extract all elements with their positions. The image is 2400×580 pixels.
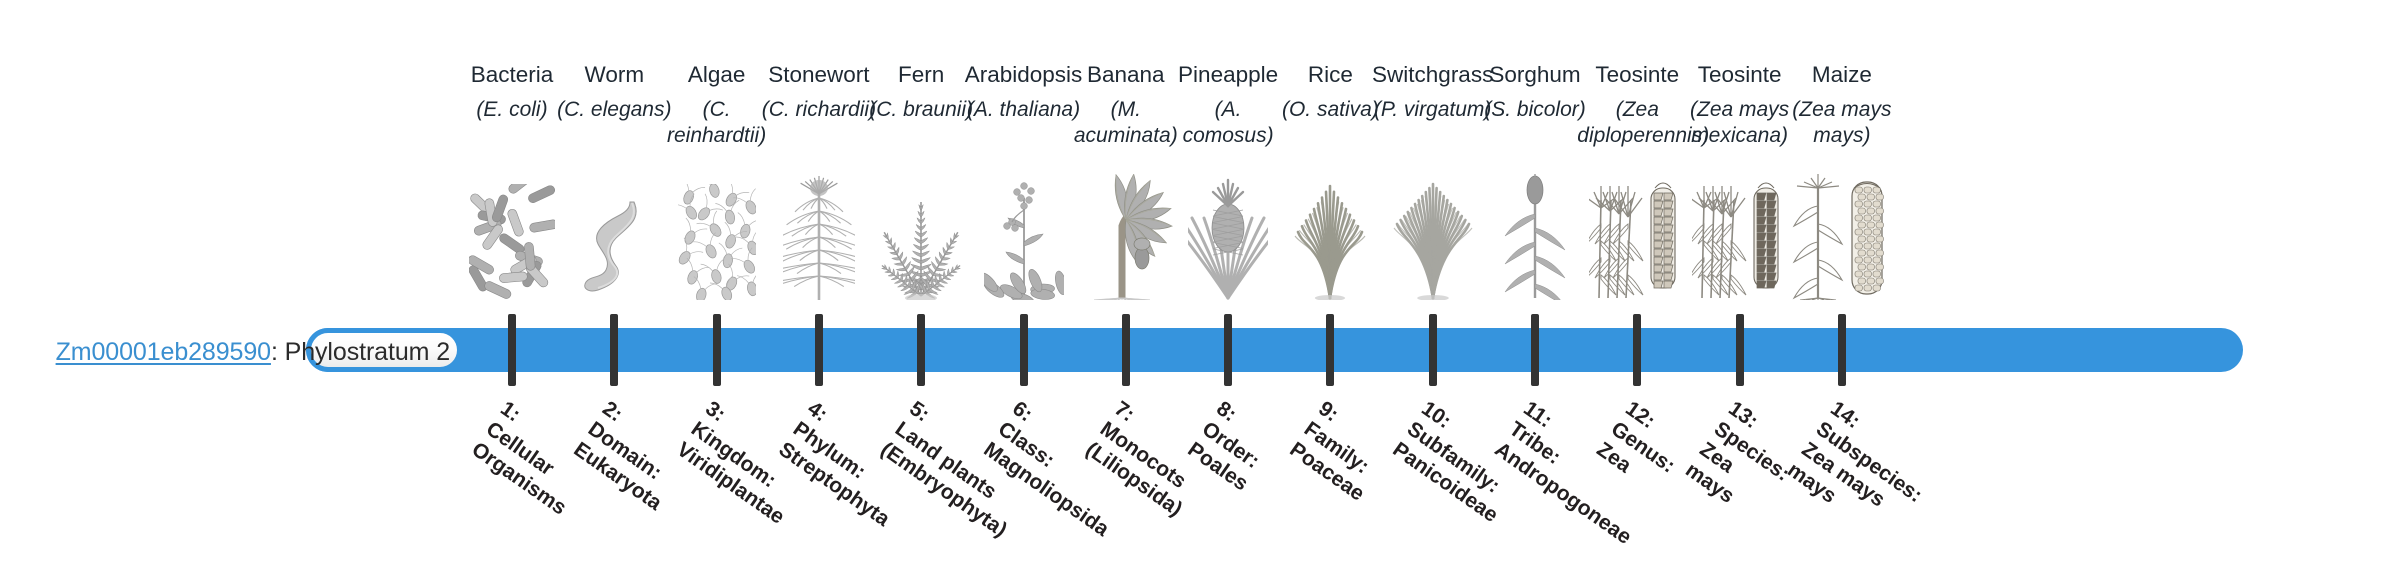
gene-phylostratum-label: Zm00001eb289590: Phylostratum 2 [0,338,450,367]
phylostratum-tick-6 [1020,314,1028,386]
phylostratum-label-14: 14: Subspecies: Zea mays mays [1783,396,2029,580]
species-column-8: Pineapple(A. comosus)8: Order: Poales [1177,0,1279,580]
species-column-9: Rice(O. sativa)9: Family: Poaceae [1279,0,1381,580]
phylostratum-tick-4 [815,314,823,386]
species-column-1: Bacteria(E. coli)1: Cellular Organisms [461,0,563,580]
phylostratum-tick-12 [1633,314,1641,386]
species-column-7: Banana(M. acuminata)7: Monocots (Liliops… [1075,0,1177,580]
phylostratum-tick-1 [508,314,516,386]
switchgrass-icon [1383,172,1483,300]
gene-label-separator: : [271,338,285,366]
species-column-4: Stonewort(C. richardii)4: Phylum: Strept… [768,0,870,580]
maize-plant-ear-icon [1792,172,1892,300]
stonewort-icon [769,172,869,300]
species-column-2: Worm(C. elegans)2: Domain: Eukaryota [563,0,665,580]
fern-icon [871,172,971,300]
species-column-10: Switchgrass(P. virgatum)10: Subfamily: P… [1382,0,1484,580]
phylostratum-tick-9 [1326,314,1334,386]
gene-phylostratum-value: Phylostratum 2 [285,338,450,366]
teosinte-plant-ear-icon [1690,172,1790,300]
phylostratum-tick-14 [1838,314,1846,386]
phylostratum-tick-13 [1736,314,1744,386]
species-common-name: Maize [1777,62,1907,88]
phylostratum-tick-11 [1531,314,1539,386]
species-scientific-name: (Zea mays mays) [1782,97,1902,149]
phylostratum-tick-5 [917,314,925,386]
pineapple-plant-icon [1178,172,1278,300]
nematode-worm-icon [564,172,664,300]
species-column-13: Teosinte(Zea mays mexicana)13: Species: … [1689,0,1791,580]
bacteria-rods-icon [462,172,562,300]
arabidopsis-icon [974,172,1074,300]
green-algae-cells-icon [667,172,767,300]
species-column-12: Teosinte(Zea diploperennis)12: Genus: Ze… [1586,0,1688,580]
species-column-14: Maize(Zea mays mays)14: Subspecies: Zea … [1791,0,1893,580]
species-column-5: Fern(C. braunii)5: Land plants (Embryoph… [870,0,972,580]
banana-plant-icon [1076,172,1176,300]
rice-plant-icon [1280,172,1380,300]
phylostratum-tick-2 [610,314,618,386]
phylostratum-tick-3 [713,314,721,386]
teosinte-plant-ear-icon [1587,172,1687,300]
phylostratum-tick-8 [1224,314,1232,386]
phylostratum-tick-7 [1122,314,1130,386]
species-column-6: Arabidopsis(A. thaliana)6: Class: Magnol… [973,0,1075,580]
phylostratum-tick-10 [1429,314,1437,386]
species-column-3: Algae(C. reinhardtii)3: Kingdom: Viridip… [666,0,768,580]
gene-id-link[interactable]: Zm00001eb289590 [56,338,271,366]
sorghum-plant-icon [1485,172,1585,300]
species-column-11: Sorghum(S. bicolor)11: Tribe: Andropogon… [1484,0,1586,580]
phylostratum-figure: Zm00001eb289590: Phylostratum 2 Bacteria… [0,0,2400,580]
